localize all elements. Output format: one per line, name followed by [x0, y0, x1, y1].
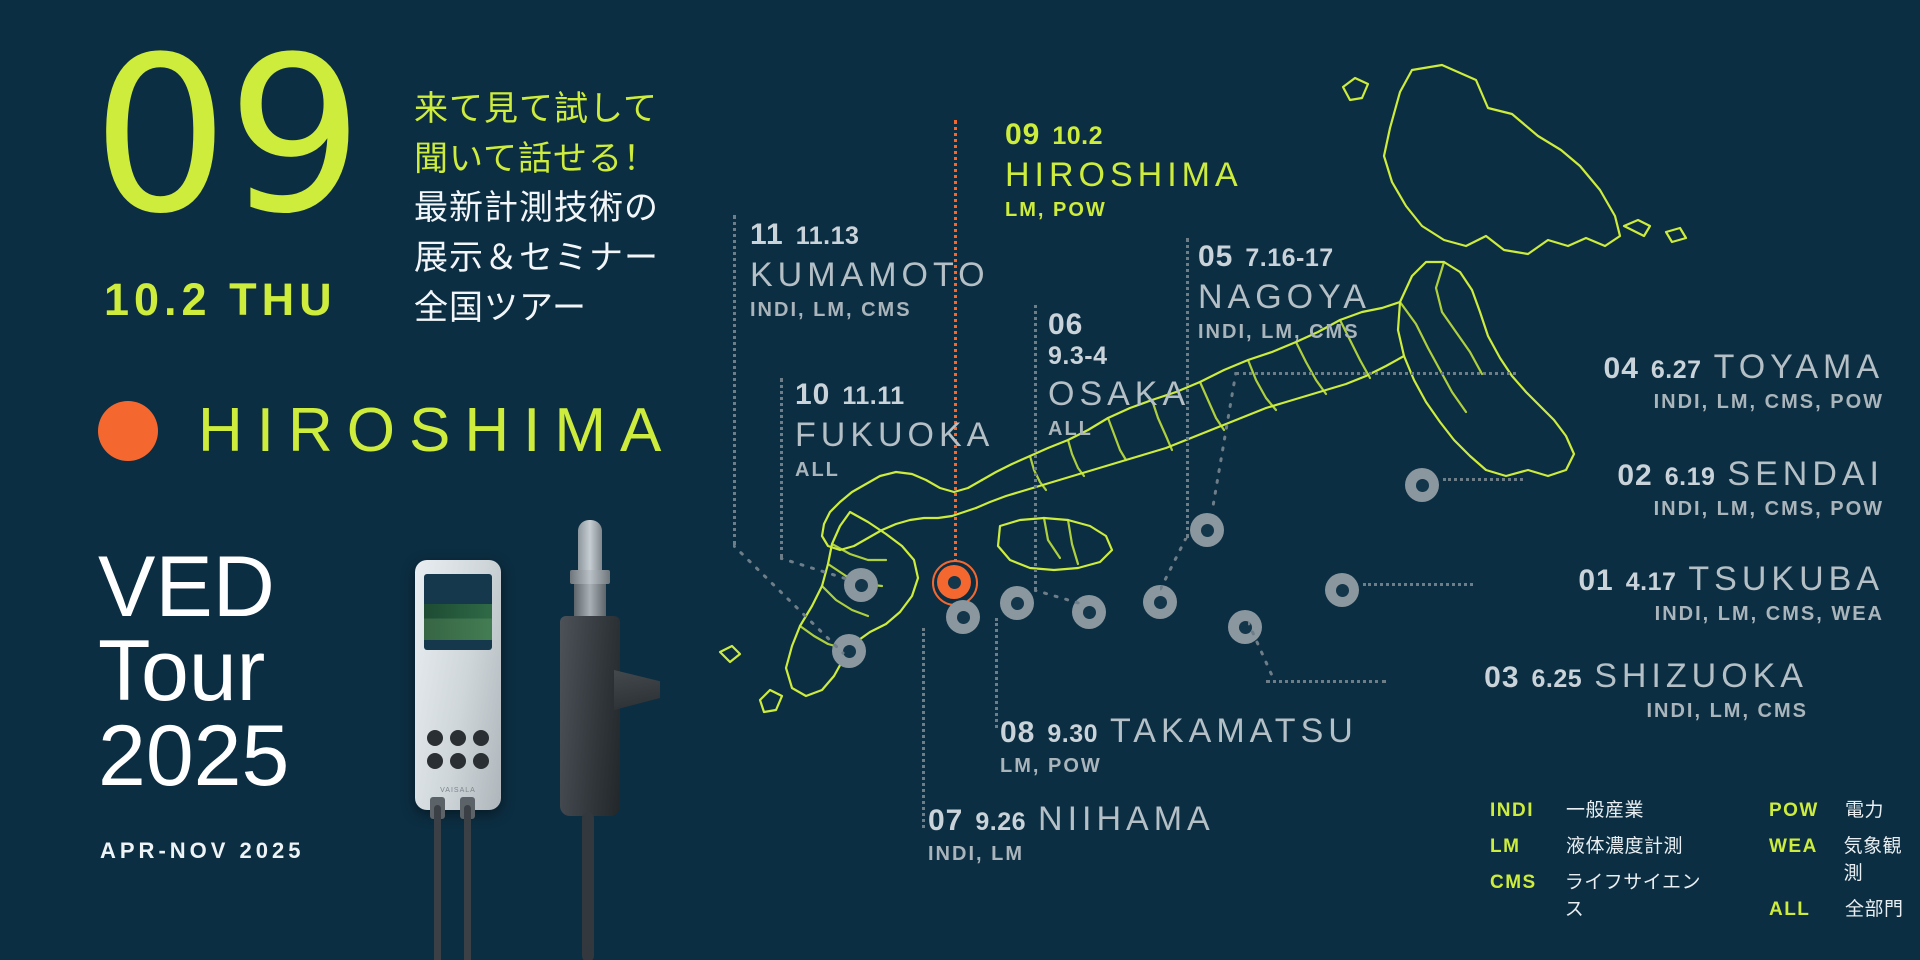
connector-tsukuba-h — [1363, 583, 1473, 586]
hero-stop-number: 09 — [92, 28, 362, 243]
connector-toyama-h — [1236, 372, 1516, 375]
stop-date-05: 7.16-17 — [1245, 244, 1333, 273]
legend-code-pow: POW — [1769, 800, 1831, 822]
stop-date-09: 10.2 — [1052, 122, 1103, 151]
stop-city-01: TSUKUBA — [1688, 560, 1884, 599]
map-label-hiroshima: 09 10.2 HIROSHIMA LM, POW — [1005, 118, 1243, 222]
map-pin-tsukuba[interactable] — [1325, 573, 1359, 607]
connector-shizuoka-d — [1248, 622, 1288, 697]
location-dot-icon — [98, 401, 158, 461]
legend-desc-all: 全部門 — [1845, 894, 1904, 921]
connector-sendai-h — [1443, 478, 1523, 481]
device-screen-waveform — [424, 604, 492, 640]
map-label-nagoya: 05 7.16-17 NAGOYA INDI, LM, CMS — [1198, 240, 1371, 344]
stop-tags-06: ALL — [1048, 418, 1190, 441]
device-brand-label: VAISALA — [415, 787, 501, 794]
stop-number-03: 03 — [1484, 661, 1519, 695]
stop-number-01: 01 — [1578, 564, 1613, 598]
tour-logo-line-3: 2025 — [98, 714, 289, 798]
connector-takamatsu-v — [995, 618, 998, 728]
connector-fukuoka-v — [780, 378, 783, 558]
stop-tags-01: INDI, LM, CMS, WEA — [1578, 603, 1884, 626]
map-label-shizuoka: 03 6.25 SHIZUOKA INDI, LM, CMS — [1484, 657, 1808, 723]
tour-logo-line-1: VED — [98, 545, 289, 629]
probe-body — [560, 616, 620, 816]
map-pin-hiroshima[interactable] — [937, 565, 971, 599]
legend-code-all: ALL — [1769, 899, 1831, 921]
stop-number-10: 10 — [795, 378, 830, 412]
stop-number-02: 02 — [1617, 459, 1652, 493]
stop-tags-07: INDI, LM — [928, 843, 1215, 866]
legend-code-cms: CMS — [1490, 872, 1551, 894]
hero-city-headline: HIROSHIMA — [98, 395, 675, 466]
legend-desc-lm: 液体濃度計測 — [1566, 831, 1683, 858]
stop-city-02: SENDAI — [1727, 455, 1884, 494]
probe-collar-lower — [574, 584, 606, 618]
stop-number-08: 08 — [1000, 716, 1035, 750]
stop-tags-04: INDI, LM, CMS, POW — [1604, 391, 1884, 414]
probe-collar — [570, 570, 610, 584]
connector-kumamoto-v — [733, 215, 736, 545]
map-label-tsukuba: 01 4.17 TSUKUBA INDI, LM, CMS, WEA — [1578, 560, 1884, 626]
connector-hiroshima — [954, 120, 957, 570]
stop-city-04: TOYAMA — [1714, 348, 1884, 387]
legend-code-wea: WEA — [1769, 836, 1830, 858]
tour-period: APR-NOV 2025 — [100, 838, 305, 864]
stop-city-03: SHIZUOKA — [1594, 657, 1808, 696]
legend-desc-pow: 電力 — [1845, 795, 1884, 822]
map-label-kumamoto: 11 11.13 KUMAMOTO INDI, LM, CMS — [750, 218, 990, 322]
stop-number-09: 09 — [1005, 118, 1040, 152]
stop-number-05: 05 — [1198, 240, 1233, 274]
stop-city-07: NIIHAMA — [1038, 800, 1215, 839]
product-illustration: VAISALA — [390, 520, 690, 960]
stop-city-08: TAKAMATSU — [1110, 712, 1358, 751]
map-label-toyama: 04 6.27 TOYAMA INDI, LM, CMS, POW — [1604, 348, 1884, 414]
stop-date-11: 11.13 — [796, 222, 860, 251]
tour-logo: VED Tour 2025 — [98, 545, 289, 798]
stop-tags-09: LM, POW — [1005, 199, 1243, 222]
legend-item-indi: INDI 一般産業 — [1490, 795, 1717, 822]
device-cables — [426, 805, 496, 960]
legend-code-lm: LM — [1490, 836, 1552, 858]
poster-canvas: 09 10.2 THU 来て見て試して 聞いて話せる！ 最新計測技術の 展示＆セ… — [0, 0, 1920, 960]
lead-line-4: 展示＆セミナー — [414, 234, 659, 284]
lead-copy: 来て見て試して 聞いて話せる！ 最新計測技術の 展示＆セミナー 全国ツアー — [414, 85, 659, 333]
stop-number-11: 11 — [750, 218, 784, 252]
legend-desc-cms: ライフサイエンス — [1565, 867, 1717, 921]
map-label-osaka: 06 9.3-4 OSAKA ALL — [1048, 308, 1190, 441]
map-pin-niihama[interactable] — [946, 600, 980, 634]
stop-tags-08: LM, POW — [1000, 755, 1358, 778]
legend-item-wea: WEA 気象観測 — [1769, 831, 1920, 885]
stop-city-06: OSAKA — [1048, 375, 1190, 414]
connector-nagoya-d — [1160, 538, 1220, 603]
stop-tags-03: INDI, LM, CMS — [1484, 700, 1808, 723]
device-screen — [424, 574, 492, 650]
device-keypad — [426, 730, 490, 776]
tour-logo-line-2: Tour — [98, 629, 289, 713]
probe-sensor-device — [530, 520, 650, 960]
legend-item-cms: CMS ライフサイエンス — [1490, 867, 1717, 921]
sector-legend: INDI 一般産業 LM 液体濃度計測 CMS ライフサイエンス POW 電力 … — [1490, 795, 1920, 921]
connector-niihama-v — [922, 628, 925, 828]
stop-date-03: 6.25 — [1532, 665, 1583, 694]
hero-date: 10.2 THU — [104, 274, 337, 326]
map-label-fukuoka: 10 11.11 FUKUOKA ALL — [795, 378, 994, 482]
handheld-indicator-device: VAISALA — [415, 560, 501, 810]
stop-tags-05: INDI, LM, CMS — [1198, 321, 1371, 344]
stop-date-06: 9.3-4 — [1048, 342, 1190, 371]
probe-handle-wing — [614, 670, 660, 710]
stop-number-04: 04 — [1604, 352, 1639, 386]
stop-city-05: NAGOYA — [1198, 278, 1371, 317]
stop-date-10: 11.11 — [842, 382, 904, 411]
stop-date-07: 9.26 — [975, 808, 1026, 837]
legend-column-left: INDI 一般産業 LM 液体濃度計測 CMS ライフサイエンス — [1490, 795, 1717, 921]
legend-desc-wea: 気象観測 — [1844, 831, 1920, 885]
stop-date-01: 4.17 — [1626, 568, 1677, 597]
lead-line-2: 聞いて話せる！ — [414, 135, 659, 185]
map-label-niihama: 07 9.26 NIIHAMA INDI, LM — [928, 800, 1215, 866]
map-label-sendai: 02 6.19 SENDAI INDI, LM, CMS, POW — [1617, 455, 1884, 521]
connector-osaka-v — [1034, 305, 1037, 590]
stop-date-02: 6.19 — [1665, 463, 1716, 492]
legend-code-indi: INDI — [1490, 800, 1552, 822]
connector-osaka-d — [1034, 590, 1094, 617]
stop-date-08: 9.30 — [1047, 720, 1098, 749]
stop-number-06: 06 — [1048, 308, 1083, 342]
stop-number-07: 07 — [928, 804, 963, 838]
legend-item-lm: LM 液体濃度計測 — [1490, 831, 1717, 858]
stop-city-11: KUMAMOTO — [750, 256, 990, 295]
stop-date-04: 6.27 — [1651, 356, 1702, 385]
probe-cord — [582, 812, 594, 960]
legend-item-pow: POW 電力 — [1769, 795, 1920, 822]
connector-toyama-d — [1206, 372, 1256, 527]
stop-city-10: FUKUOKA — [795, 416, 994, 455]
stop-city-09: HIROSHIMA — [1005, 156, 1243, 195]
stop-tags-10: ALL — [795, 459, 994, 482]
lead-line-3: 最新計測技術の — [414, 184, 659, 234]
legend-column-right: POW 電力 WEA 気象観測 ALL 全部門 — [1769, 795, 1920, 921]
lead-line-1: 来て見て試して — [414, 85, 659, 135]
lead-line-5: 全国ツアー — [414, 284, 659, 334]
map-pin-takamatsu[interactable] — [1000, 586, 1034, 620]
stop-tags-11: INDI, LM, CMS — [750, 299, 990, 322]
map-pin-sendai[interactable] — [1405, 468, 1439, 502]
hero-city-name: HIROSHIMA — [198, 395, 675, 466]
stop-tags-02: INDI, LM, CMS, POW — [1617, 498, 1884, 521]
connector-fukuoka-d — [780, 558, 860, 593]
legend-desc-indi: 一般産業 — [1566, 795, 1644, 822]
map-label-takamatsu: 08 9.30 TAKAMATSU LM, POW — [1000, 712, 1358, 778]
legend-item-all: ALL 全部門 — [1769, 894, 1920, 921]
probe-tip — [578, 520, 602, 572]
